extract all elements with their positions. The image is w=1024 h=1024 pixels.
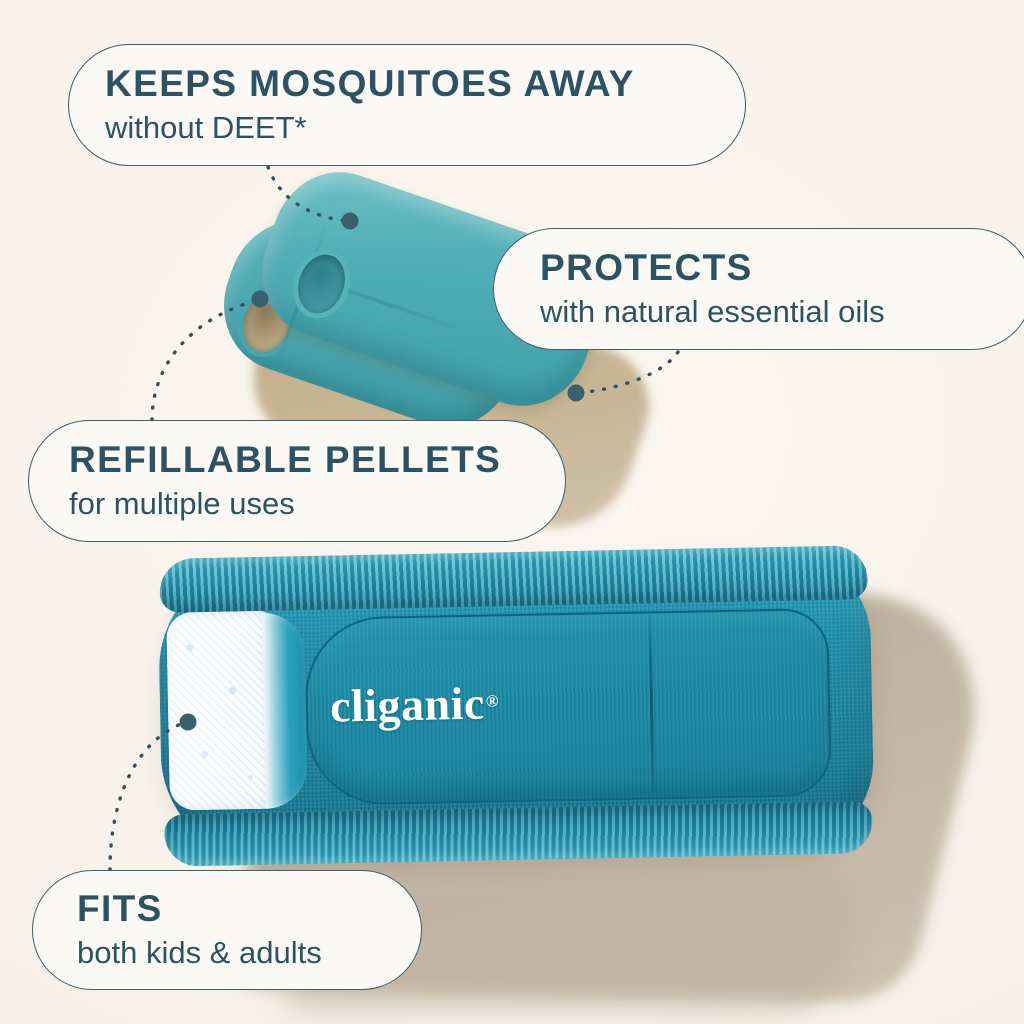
callout-subtitle: with natural essential oils xyxy=(540,295,1024,329)
velcro-loop-patch xyxy=(166,611,274,811)
registered-trademark-icon: ® xyxy=(486,691,500,710)
wristband-product xyxy=(157,549,875,863)
brand-wordmark: cliganic xyxy=(330,678,486,732)
infographic-canvas: cliganic® KEEPS MOSQUITOES AWAY without … xyxy=(0,0,1024,1024)
callout-subtitle: both kids & adults xyxy=(77,936,421,970)
callout-refillable-pellets: REFILLABLE PELLETS for multiple uses xyxy=(28,420,566,542)
callout-subtitle: without DEET* xyxy=(105,111,745,145)
callout-title: REFILLABLE PELLETS xyxy=(69,441,565,478)
callout-keeps-mosquitoes-away: KEEPS MOSQUITOES AWAY without DEET* xyxy=(68,44,746,166)
callout-title: KEEPS MOSQUITOES AWAY xyxy=(105,65,745,102)
callout-fits: FITS both kids & adults xyxy=(32,870,422,990)
callout-subtitle: for multiple uses xyxy=(69,487,565,521)
callout-title: PROTECTS xyxy=(540,249,1024,286)
brand-logo: cliganic® xyxy=(330,676,500,732)
callout-title: FITS xyxy=(77,890,421,927)
velcro-edge-trim xyxy=(262,612,308,809)
callout-protects: PROTECTS with natural essential oils xyxy=(493,228,1024,350)
